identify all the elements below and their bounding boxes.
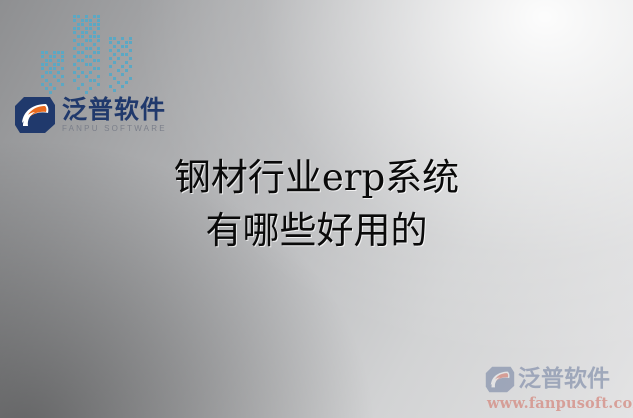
poster-canvas: 泛普软件 FANPU SOFTWARE 钢材行业erp系统 有哪些好用的 泛普软… bbox=[0, 0, 633, 418]
pixel-buildings-graphic bbox=[40, 8, 170, 96]
watermark: 泛普软件 www.fanpusoft.com bbox=[485, 364, 629, 412]
brand-logo: 泛普软件 FANPU SOFTWARE bbox=[14, 93, 166, 137]
brand-name-en: FANPU SOFTWARE bbox=[62, 125, 167, 133]
watermark-url: www.fanpusoft.com bbox=[485, 395, 629, 412]
headline-line-1: 钢材行业erp系统 bbox=[0, 152, 633, 205]
fanpu-logo-mark-icon bbox=[14, 96, 56, 134]
headline: 钢材行业erp系统 有哪些好用的 bbox=[0, 152, 633, 257]
watermark-name-cn: 泛普软件 bbox=[518, 368, 610, 391]
watermark-logo-mark-icon bbox=[485, 366, 515, 393]
brand-wordmark: 泛普软件 FANPU SOFTWARE bbox=[62, 97, 167, 133]
headline-line-2: 有哪些好用的 bbox=[0, 205, 633, 258]
watermark-logo-row: 泛普软件 bbox=[485, 364, 629, 394]
brand-name-cn: 泛普软件 bbox=[62, 97, 167, 122]
